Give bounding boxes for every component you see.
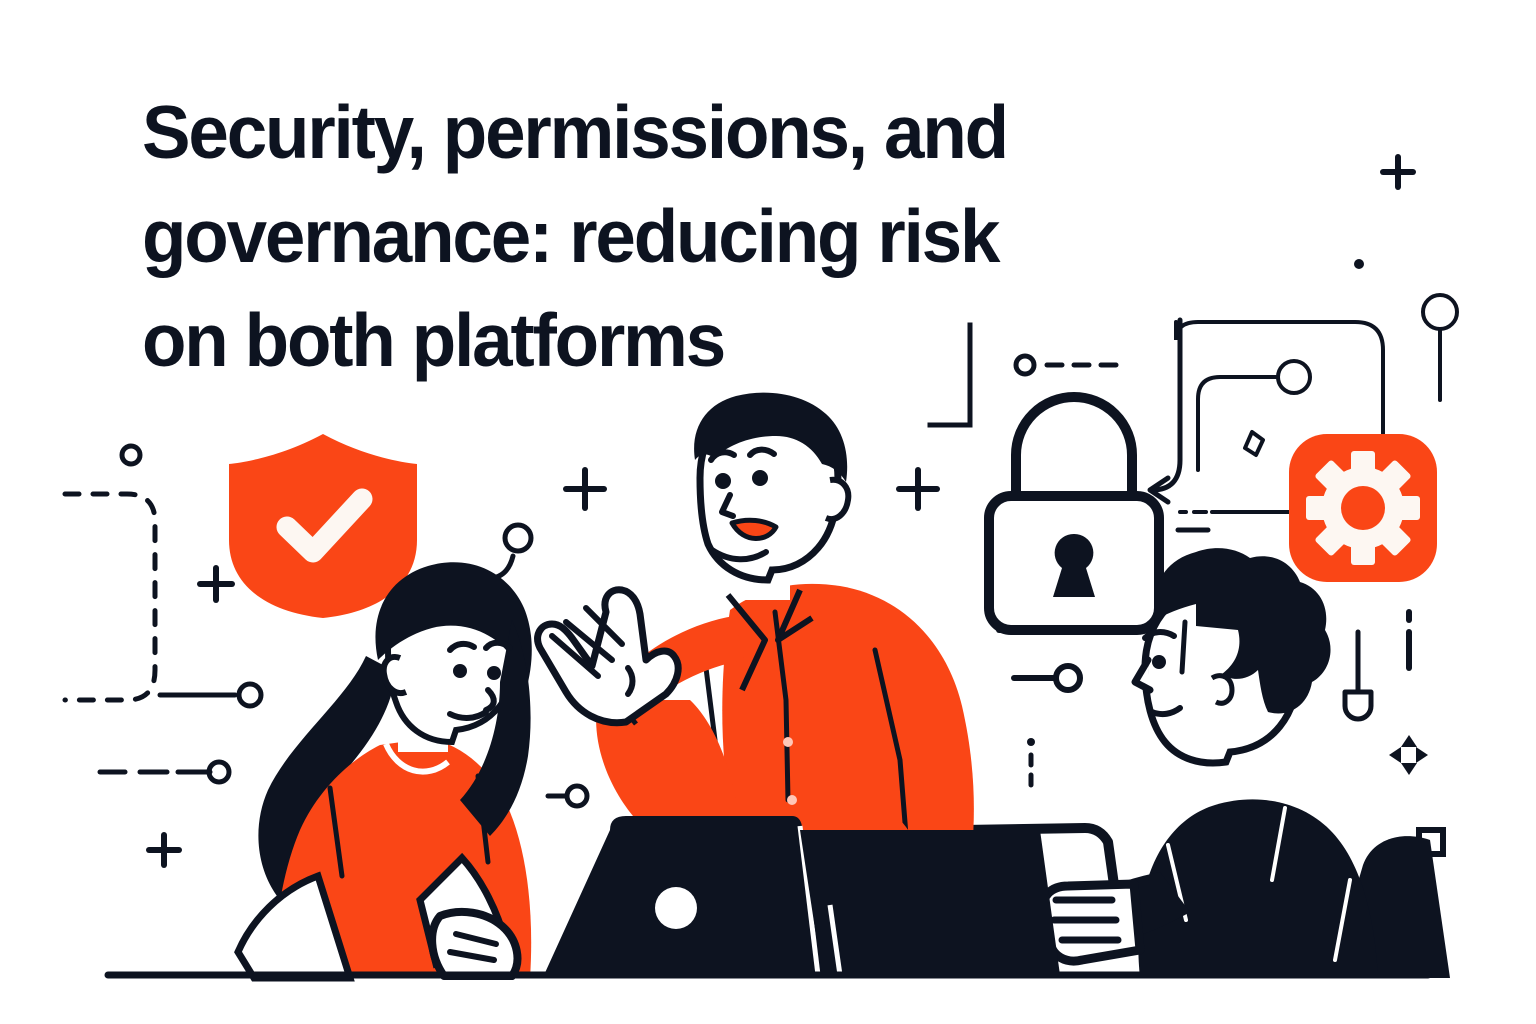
gear-settings-icon xyxy=(1289,434,1437,582)
eye xyxy=(487,666,501,680)
laptop xyxy=(544,816,1060,975)
eye xyxy=(1152,655,1166,669)
gear-glyph xyxy=(1306,451,1420,565)
gear-center xyxy=(1341,486,1385,530)
page-title: Security, permissions, and governance: r… xyxy=(142,80,1306,392)
dot-mark xyxy=(1027,738,1035,746)
laptop-logo xyxy=(655,887,697,929)
dot-mark xyxy=(1354,259,1364,269)
shield-check-icon xyxy=(229,434,417,618)
illustration-banner: Security, permissions, and governance: r… xyxy=(0,0,1536,1024)
eye xyxy=(752,470,768,486)
eye xyxy=(453,664,467,678)
eye xyxy=(715,473,731,489)
